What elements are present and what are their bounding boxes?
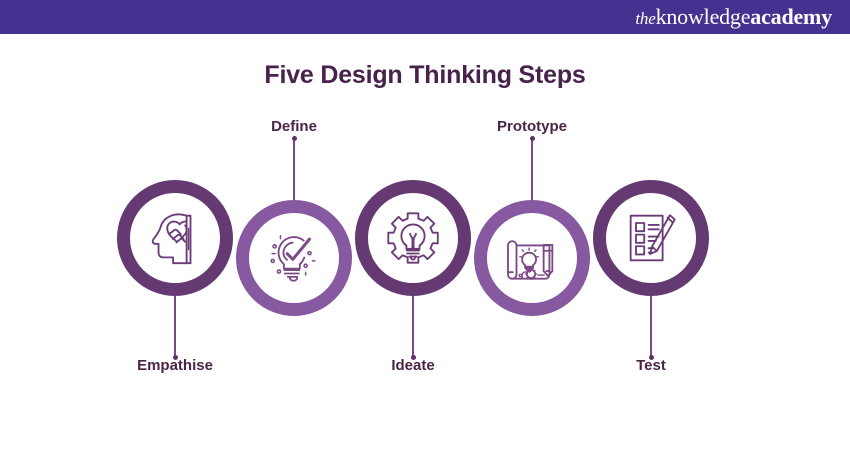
connector-line-ideate xyxy=(412,296,414,358)
connector-line-test xyxy=(650,296,652,358)
step-label-empathise: Empathise xyxy=(65,357,285,374)
step-label-define: Define xyxy=(184,118,404,135)
lightbulb-check-icon xyxy=(263,227,325,289)
step-circle-ideate[interactable] xyxy=(355,180,471,296)
step-label-test: Test xyxy=(541,357,761,374)
connector-line-empathise xyxy=(174,296,176,358)
step-circle-test[interactable] xyxy=(593,180,709,296)
design-thinking-diagram: Empathise Define xyxy=(0,0,850,450)
checklist-pencil-icon xyxy=(620,207,682,269)
connector-dot-prototype xyxy=(530,136,535,141)
step-label-ideate: Ideate xyxy=(303,357,523,374)
gear-lightbulb-icon xyxy=(382,207,444,269)
step-circle-define[interactable] xyxy=(236,200,352,316)
step-circle-empathise[interactable] xyxy=(117,180,233,296)
connector-line-define xyxy=(293,138,295,200)
connector-line-prototype xyxy=(531,138,533,200)
head-heart-handshake-icon xyxy=(144,207,206,269)
step-circle-prototype[interactable] xyxy=(474,200,590,316)
step-label-prototype: Prototype xyxy=(422,118,642,135)
connector-dot-define xyxy=(292,136,297,141)
blueprint-pencil-icon xyxy=(501,227,563,289)
